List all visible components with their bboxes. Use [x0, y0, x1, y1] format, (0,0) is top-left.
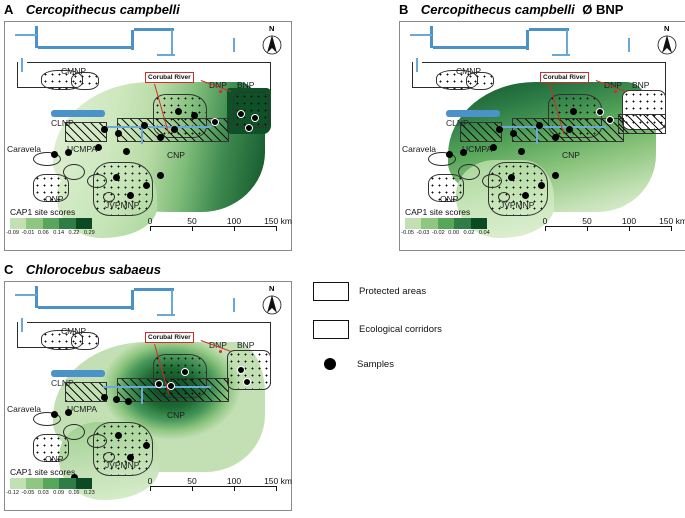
- scale-label: 0: [148, 216, 153, 226]
- scale-line-a: [150, 226, 276, 227]
- river-geba-main-a: [51, 110, 105, 117]
- river-geba-b: [526, 30, 529, 50]
- panel-b-title: B Cercopithecus campbelli Ø BNP: [399, 2, 623, 17]
- river-nw-c: [15, 294, 37, 296]
- country-border-nw-b: [412, 62, 413, 88]
- corubal-leader-dot-a: [219, 90, 222, 93]
- panel-a-title: A Cercopithecus campbelli: [4, 2, 180, 17]
- ramp-swatch: [59, 218, 75, 229]
- river-north-a: [35, 26, 38, 48]
- cap-value: 0.14: [51, 230, 66, 236]
- cap-value: -0.05: [400, 230, 415, 236]
- ramp-swatch: [405, 218, 421, 229]
- sample-dot: [171, 126, 178, 133]
- sample-dot: [101, 394, 108, 401]
- ecological-corridors-swatch-icon: [313, 320, 349, 339]
- label-onp-b: ONP: [440, 194, 458, 204]
- sample-dot: [141, 122, 148, 129]
- sample-dot: [127, 192, 134, 199]
- scale-line-c: [150, 486, 276, 487]
- sample-dot: [51, 411, 58, 418]
- corubal-leader-dot-b: [614, 90, 617, 93]
- cap-value: 0.09: [51, 490, 66, 496]
- scale-label: 150 km: [264, 476, 292, 486]
- sample-dot: [51, 151, 58, 158]
- river-geba-main-b: [446, 110, 500, 117]
- label-bnp-a: BNP: [237, 80, 254, 90]
- river-east-b: [628, 38, 630, 52]
- river-ne3-c: [157, 314, 175, 316]
- label-cnp-c: CNP: [167, 410, 185, 420]
- panel-c-letter: C: [4, 262, 13, 277]
- panel-b-letter: B: [399, 2, 408, 17]
- label-bnp-c: BNP: [237, 340, 254, 350]
- label-onp-c: ONP: [45, 454, 63, 464]
- river-corubal2-c: [141, 388, 143, 404]
- river-north-c: [35, 286, 38, 308]
- sample-dot: [460, 149, 467, 156]
- island-group2-b: [482, 174, 502, 188]
- river-nw2-c: [21, 318, 23, 332]
- label-jvpmnp-b: JVPMNP: [500, 200, 534, 210]
- label-jvpmnp-c: JVPMNP: [105, 460, 139, 470]
- scale-label: 0: [148, 476, 153, 486]
- river-nw2-b: [416, 58, 418, 72]
- cap-legend-title-c: CAP1 site scores: [10, 467, 97, 477]
- island-group-b: [458, 164, 480, 180]
- cap-color-ramp-c: [10, 478, 92, 489]
- ramp-swatch: [43, 218, 59, 229]
- scale-label: 50: [187, 216, 196, 226]
- legend-row-protected-areas: Protected areas: [313, 282, 442, 301]
- ramp-swatch: [43, 478, 59, 489]
- sample-dot: [251, 114, 259, 122]
- north-arrow-b: N: [656, 26, 678, 56]
- sample-dot: [167, 382, 175, 390]
- river-geba-main-c: [51, 370, 105, 377]
- cap-legend-title-b: CAP1 site scores: [405, 207, 492, 217]
- legend-label-ecological-corridors: Ecological corridors: [359, 324, 442, 335]
- river-corubal2-a: [141, 128, 143, 144]
- sample-dot: [175, 108, 182, 115]
- ramp-swatch: [10, 478, 26, 489]
- label-cnp-a: CNP: [167, 150, 185, 160]
- scale-line-b: [545, 226, 671, 227]
- sample-dot: [95, 144, 102, 151]
- panel-a-letter: A: [4, 2, 13, 17]
- ramp-swatch: [26, 218, 42, 229]
- sample-dot: [155, 380, 163, 388]
- corubal-river-callout-b: Corubal River: [540, 72, 589, 83]
- samples-swatch: [313, 358, 347, 370]
- north-arrow-c: N: [261, 286, 283, 316]
- corubal-river-callout-a: Corubal River: [145, 72, 194, 83]
- cap-value: -0.01: [20, 230, 35, 236]
- cap-value: 0.29: [82, 230, 97, 236]
- sample-dot: [243, 378, 251, 386]
- panel-a-species: Cercopithecus campbelli: [26, 2, 180, 17]
- scale-label: 150 km: [264, 216, 292, 226]
- river-corubal-b: [498, 126, 606, 128]
- label-cnp-b: CNP: [562, 150, 580, 160]
- sample-dot: [237, 366, 245, 374]
- cap-legend-values-b: -0.05 -0.03 -0.02 0.00 0.02 0.04: [400, 230, 492, 236]
- cap-value: 0.16: [66, 490, 81, 496]
- scale-tick: [671, 226, 672, 231]
- scale-tick: [234, 226, 235, 231]
- scale-tick: [192, 486, 193, 491]
- scale-bar-b: 0 50 100 150 km: [545, 216, 675, 234]
- label-jvpmnp-a: JVPMNP: [105, 200, 139, 210]
- river-nw2-a: [21, 58, 23, 72]
- sample-dot: [496, 126, 503, 133]
- river-ne2-c: [171, 290, 173, 316]
- island-group-c: [63, 424, 85, 440]
- north-label-b: N: [664, 24, 669, 33]
- label-cmnp-c: CMNP: [61, 326, 86, 336]
- sample-dot: [522, 192, 529, 199]
- scale-tick: [234, 486, 235, 491]
- scale-label: 100: [227, 216, 241, 226]
- cap-value: -0.05: [20, 490, 35, 496]
- cap-legend-a: CAP1 site scores -0.09 -0.01 0.06 0.14 0…: [10, 207, 97, 236]
- label-bnp-b: BNP: [632, 80, 649, 90]
- scale-label: 150 km: [659, 216, 685, 226]
- legend-row-ecological-corridors: Ecological corridors: [313, 320, 442, 339]
- river-east-a: [233, 38, 235, 52]
- sample-dot: [508, 174, 515, 181]
- label-onp-a: ONP: [45, 194, 63, 204]
- cap-legend-title-a: CAP1 site scores: [10, 207, 97, 217]
- legend-label-samples: Samples: [357, 359, 394, 370]
- sample-dot: [446, 151, 453, 158]
- sample-dot: [552, 134, 559, 141]
- panel-c-species: Chlorocebus sabaeus: [26, 262, 161, 277]
- river-ne-a: [134, 28, 174, 31]
- cap-value: 0.04: [477, 230, 492, 236]
- country-border-nw-c: [17, 322, 18, 348]
- north-label-c: N: [269, 284, 274, 293]
- river-cacheu-c: [38, 306, 134, 309]
- ramp-swatch: [471, 218, 487, 229]
- corubal-river-callout-c: Corubal River: [145, 332, 194, 343]
- river-nw-a: [15, 34, 37, 36]
- cap-value: -0.12: [5, 490, 20, 496]
- island-group2-c: [87, 434, 107, 448]
- sample-dot: [127, 454, 134, 461]
- sample-dot: [113, 396, 120, 403]
- river-ne3-a: [157, 54, 175, 56]
- scale-label: 50: [582, 216, 591, 226]
- sample-dot: [510, 130, 517, 137]
- country-border-north-b: [422, 62, 666, 63]
- sample-dot: [191, 112, 198, 119]
- scale-tick: [276, 486, 277, 491]
- sample-dot: [157, 172, 164, 179]
- ramp-swatch: [76, 218, 92, 229]
- scale-tick: [192, 226, 193, 231]
- sample-dot: [115, 130, 122, 137]
- cap-value: -0.09: [5, 230, 20, 236]
- cap-legend-c: CAP1 site scores -0.12 -0.05 0.03 0.09 0…: [10, 467, 97, 496]
- river-geba-c: [131, 290, 134, 310]
- country-border-north-c: [27, 322, 271, 323]
- sample-dot: [211, 118, 219, 126]
- sample-dot: [143, 182, 150, 189]
- scale-label: 50: [187, 476, 196, 486]
- label-cmnp-b: CMNP: [456, 66, 481, 76]
- cap-value: 0.00: [446, 230, 461, 236]
- ramp-swatch: [454, 218, 470, 229]
- cap-legend-values-a: -0.09 -0.01 0.06 0.14 0.22 0.29: [5, 230, 97, 236]
- scale-tick: [545, 226, 546, 231]
- scale-tick: [276, 226, 277, 231]
- legend-label-protected-areas: Protected areas: [359, 286, 426, 297]
- river-ne2-a: [171, 30, 173, 56]
- cap-legend-b: CAP1 site scores -0.05 -0.03 -0.02 0.00 …: [405, 207, 492, 236]
- sample-dot: [65, 409, 72, 416]
- sample-dot: [552, 172, 559, 179]
- cap-value: 0.22: [66, 230, 81, 236]
- country-border-nw-a: [17, 62, 18, 88]
- sample-dot: [115, 432, 122, 439]
- label-caravela-a: Caravela: [7, 144, 41, 154]
- sample-dot-icon: [324, 358, 336, 370]
- ramp-swatch: [26, 478, 42, 489]
- label-clnp-c: CLNP: [51, 378, 74, 388]
- ramp-swatch: [59, 478, 75, 489]
- river-ne3-b: [552, 54, 570, 56]
- cap-value: -0.03: [415, 230, 430, 236]
- river-corubal-a: [103, 126, 211, 128]
- river-cacheu-a: [38, 46, 134, 49]
- scale-tick: [629, 226, 630, 231]
- label-clnp-a: CLNP: [51, 118, 74, 128]
- cap-value: -0.02: [431, 230, 446, 236]
- cap-value: 0.23: [82, 490, 97, 496]
- sample-dot: [538, 182, 545, 189]
- scale-label: 100: [622, 216, 636, 226]
- label-clnp-b: CLNP: [446, 118, 469, 128]
- cap-value: 0.02: [461, 230, 476, 236]
- river-east-c: [233, 298, 235, 312]
- river-ne2-b: [566, 30, 568, 56]
- corubal-leader-dot-c: [219, 350, 222, 353]
- sample-dot: [518, 148, 525, 155]
- river-cacheu-b: [433, 46, 529, 49]
- panel-b-species: Cercopithecus campbelli: [421, 2, 575, 17]
- scale-tick: [150, 486, 151, 491]
- label-caravela-b: Caravela: [402, 144, 436, 154]
- sample-dot: [65, 149, 72, 156]
- north-label-a: N: [269, 24, 274, 33]
- scale-label: 100: [227, 476, 241, 486]
- sample-dot: [123, 148, 130, 155]
- sample-dot: [570, 108, 577, 115]
- sample-dot: [596, 108, 604, 116]
- panel-b-extra: Ø BNP: [582, 2, 623, 17]
- sample-dot: [536, 122, 543, 129]
- label-caravela-c: Caravela: [7, 404, 41, 414]
- cap-color-ramp-a: [10, 218, 92, 229]
- ecological-corridor-east-b: [618, 114, 666, 134]
- river-ne-c: [134, 288, 174, 291]
- scale-tick: [587, 226, 588, 231]
- river-geba-a: [131, 30, 134, 50]
- scale-label: 0: [543, 216, 548, 226]
- cap-color-ramp-b: [405, 218, 487, 229]
- ramp-swatch: [421, 218, 437, 229]
- ramp-swatch: [10, 218, 26, 229]
- sample-dot: [125, 398, 132, 405]
- scale-tick: [150, 226, 151, 231]
- protected-areas-swatch-icon: [313, 282, 349, 301]
- river-north-b: [430, 26, 433, 48]
- sample-dot: [157, 134, 164, 141]
- sample-dot: [566, 126, 573, 133]
- cap-legend-values-c: -0.12 -0.05 0.03 0.09 0.16 0.23: [5, 490, 97, 496]
- river-ne-b: [529, 28, 569, 31]
- sample-dot: [237, 110, 245, 118]
- sample-dot: [245, 124, 253, 132]
- label-cmnp-a: CMNP: [61, 66, 86, 76]
- cap-value: 0.06: [36, 230, 51, 236]
- figure-legend: Protected areas Ecological corridors Sam…: [313, 282, 442, 389]
- cap-value: 0.03: [36, 490, 51, 496]
- legend-row-samples: Samples: [313, 358, 442, 370]
- north-arrow-a: N: [261, 26, 283, 56]
- sample-dot: [143, 442, 150, 449]
- sample-dot: [113, 174, 120, 181]
- river-nw-b: [410, 34, 432, 36]
- country-border-north-a: [27, 62, 271, 63]
- sample-dot: [606, 116, 614, 124]
- panel-c-title: C Chlorocebus sabaeus: [4, 262, 161, 277]
- scale-bar-a: 0 50 100 150 km: [150, 216, 280, 234]
- scale-bar-c: 0 50 100 150 km: [150, 476, 280, 494]
- ramp-swatch: [438, 218, 454, 229]
- river-corubal2-b: [536, 128, 538, 144]
- island-group2-a: [87, 174, 107, 188]
- island-group-a: [63, 164, 85, 180]
- sample-dot: [490, 144, 497, 151]
- sample-dot: [181, 368, 189, 376]
- ramp-swatch: [76, 478, 92, 489]
- sample-dot: [101, 126, 108, 133]
